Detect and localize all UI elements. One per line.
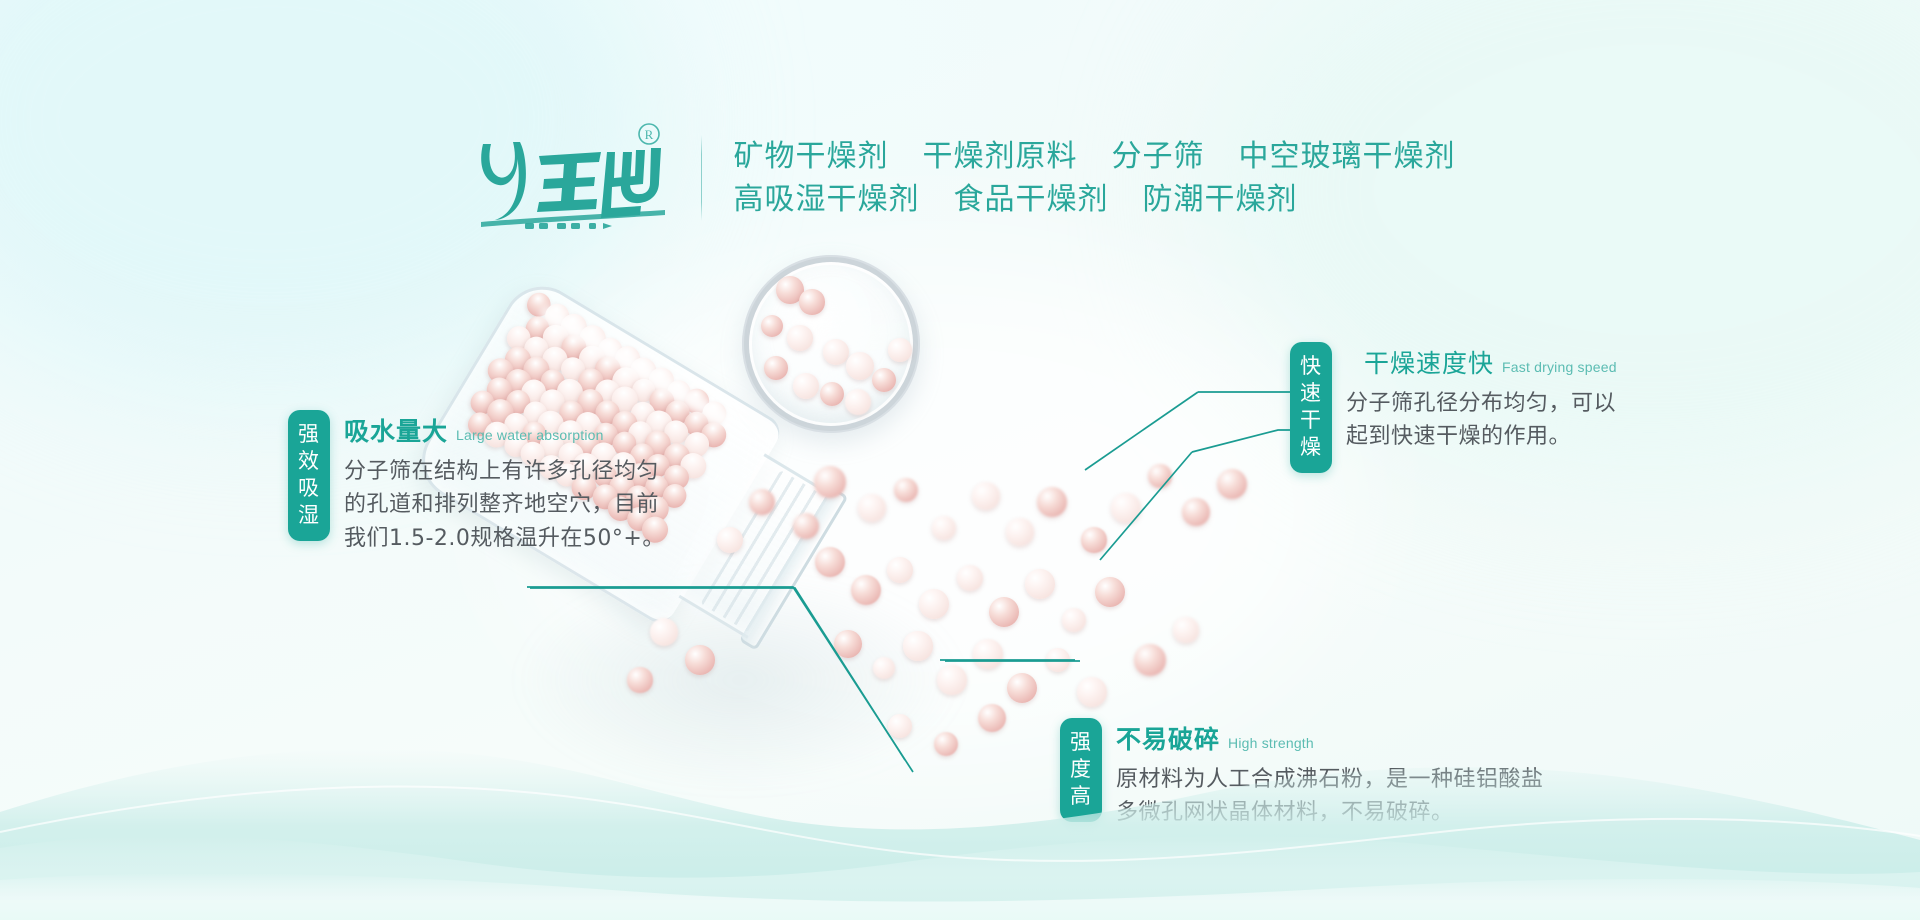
registered-mark-icon: R <box>639 124 659 144</box>
header-divider <box>701 135 702 221</box>
callout-body: 吸水量大 Large water absorption 分子筛在结构上有许多孔径… <box>344 410 665 555</box>
callout-text-line: 我们1.5-2.0规格温升在50°+。 <box>344 522 665 555</box>
callout-fast-drying-speed: 快 速 干 燥 干燥速度快 Fast drying speed 分子筛孔径分布均… <box>1290 342 1617 473</box>
desiccant-bead <box>823 339 849 365</box>
badge-char: 快 <box>1290 353 1332 380</box>
keyword-item[interactable]: 矿物干燥剂 <box>734 140 889 173</box>
header: R 矿物干燥剂 干燥剂原料 分子筛 中空玻璃干燥剂 高吸湿干燥剂 食品干燥剂 防… <box>0 118 1920 238</box>
callout-body: 干燥速度快 Fast drying speed 分子筛孔径分布均匀，可以 起到快… <box>1346 342 1617 454</box>
desiccant-bead <box>761 315 784 338</box>
keyword-item[interactable]: 高吸湿干燥剂 <box>734 183 920 216</box>
desiccant-bead <box>845 389 871 415</box>
badge-char: 速 <box>1290 380 1332 407</box>
desiccant-bead <box>793 373 819 399</box>
desiccant-bead <box>846 352 874 380</box>
desiccant-bead <box>872 368 896 392</box>
keyword-item[interactable]: 食品干燥剂 <box>954 183 1109 216</box>
badge-char: 吸 <box>288 475 330 502</box>
desiccant-bead <box>799 289 824 314</box>
callout-heading: 干燥速度快 Fast drying speed <box>1346 344 1617 380</box>
badge-char: 干 <box>1290 407 1332 434</box>
callout-text-line: 分子筛孔径分布均匀，可以 <box>1346 387 1617 420</box>
desiccant-bead <box>764 356 788 380</box>
callout-text-line: 分子筛在结构上有许多孔径均匀 <box>344 455 665 488</box>
badge-fast-drying: 快 速 干 燥 <box>1290 342 1332 473</box>
callout-subtitle: Fast drying speed <box>1502 359 1617 375</box>
desiccant-bead <box>820 382 844 406</box>
callout-text-line: 的孔道和排列整齐地空穴，目前 <box>344 488 665 521</box>
keyword-item[interactable]: 干燥剂原料 <box>923 140 1078 173</box>
badge-char: 强 <box>288 421 330 448</box>
callout-text: 分子筛在结构上有许多孔径均匀 的孔道和排列整齐地空穴，目前 我们1.5-2.0规… <box>344 455 665 555</box>
callout-title: 吸水量大 <box>344 412 448 448</box>
keyword-row-2: 高吸湿干燥剂 食品干燥剂 防潮干燥剂 <box>734 183 1456 216</box>
callout-heading: 吸水量大 Large water absorption <box>344 412 665 448</box>
desiccant-bead <box>787 325 812 350</box>
desiccant-bead <box>888 338 911 361</box>
badge-char: 效 <box>288 448 330 475</box>
bottom-wave-decoration <box>0 720 1920 920</box>
callout-large-water-absorption: 强 效 吸 湿 吸水量大 Large water absorption 分子筛在… <box>288 410 665 555</box>
callout-title: 干燥速度快 <box>1364 344 1494 380</box>
keyword-row-1: 矿物干燥剂 干燥剂原料 分子筛 中空玻璃干燥剂 <box>734 140 1456 173</box>
callout-subtitle: Large water absorption <box>456 427 604 443</box>
brand-logo[interactable]: R <box>465 122 675 234</box>
svg-text:R: R <box>644 127 653 142</box>
keyword-item[interactable]: 防潮干燥剂 <box>1143 183 1298 216</box>
badge-strong-absorption: 强 效 吸 湿 <box>288 410 330 541</box>
banner-stage: R 矿物干燥剂 干燥剂原料 分子筛 中空玻璃干燥剂 高吸湿干燥剂 食品干燥剂 防… <box>0 0 1920 920</box>
callout-text-line: 起到快速干燥的作用。 <box>1346 420 1617 453</box>
keyword-item[interactable]: 中空玻璃干燥剂 <box>1239 140 1456 173</box>
keyword-item[interactable]: 分子筛 <box>1112 140 1205 173</box>
badge-char: 燥 <box>1290 434 1332 461</box>
badge-char: 湿 <box>288 502 330 529</box>
keyword-list: 矿物干燥剂 干燥剂原料 分子筛 中空玻璃干燥剂 高吸湿干燥剂 食品干燥剂 防潮干… <box>734 140 1456 216</box>
callout-text: 分子筛孔径分布均匀，可以 起到快速干燥的作用。 <box>1346 387 1617 454</box>
